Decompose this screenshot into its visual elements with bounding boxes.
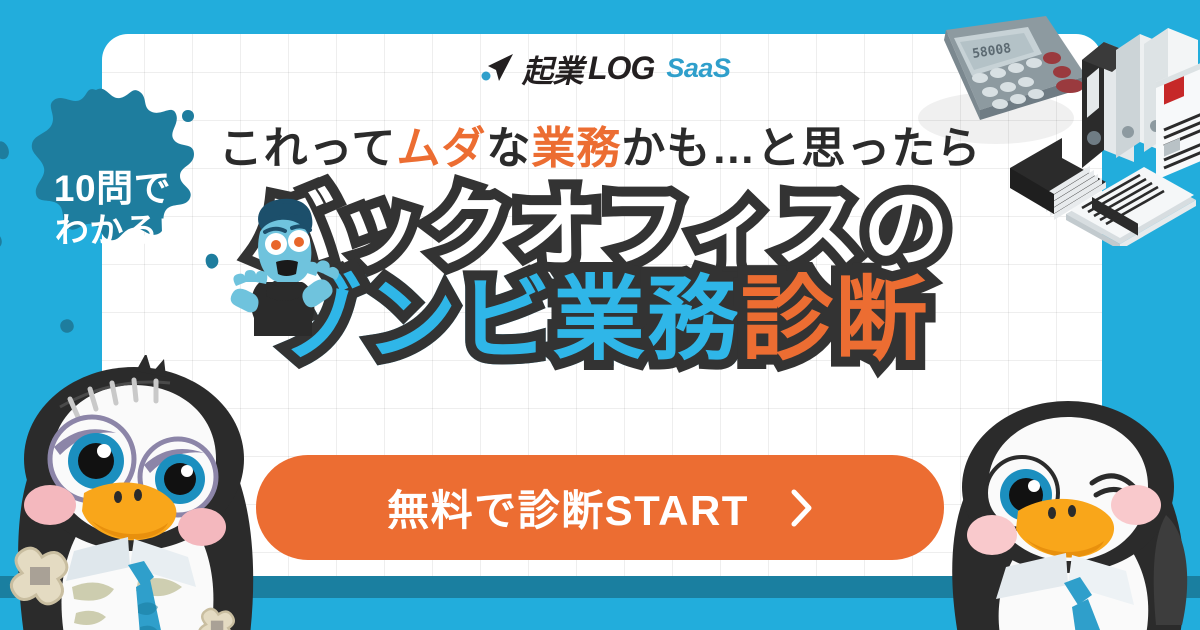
headline-line-1-text: バックオフィスの (249, 186, 951, 272)
headline-line-2-blue: ゾンビ業務 (271, 274, 741, 366)
headline-line-2: ゾンビ業務診断 (0, 274, 1200, 366)
tagline-part-2: な (486, 124, 531, 173)
paper-plane-icon (481, 53, 515, 83)
headline-line-1: バックオフィスの (0, 186, 1200, 272)
tagline-highlight-1: ムダ (396, 124, 486, 173)
chevron-right-icon (791, 489, 813, 527)
logo-text-en: LOG (588, 50, 654, 87)
headline-line-2-orange: 診断 (741, 274, 929, 366)
bandage-icon-2 (199, 609, 233, 630)
tagline-part-3: かも…と思ったら (621, 124, 981, 173)
cta-label: 無料で診断START (387, 477, 749, 538)
brand-logo[interactable]: 起業 LOG SaaS (481, 48, 730, 88)
headline: バックオフィスの ゾンビ業務診断 (0, 186, 1200, 366)
teal-band (0, 576, 1200, 598)
logo-text-jp: 起業 (522, 46, 583, 91)
tagline-highlight-2: 業務 (531, 124, 621, 173)
logo-text-saas: SaaS (666, 53, 730, 84)
promo-banner: 58008 (0, 0, 1200, 630)
tagline: これってムダな業務かも…と思ったら (0, 112, 1200, 176)
start-diagnosis-button[interactable]: 無料で診断START (256, 455, 944, 560)
tagline-part-1: これって (219, 124, 397, 173)
